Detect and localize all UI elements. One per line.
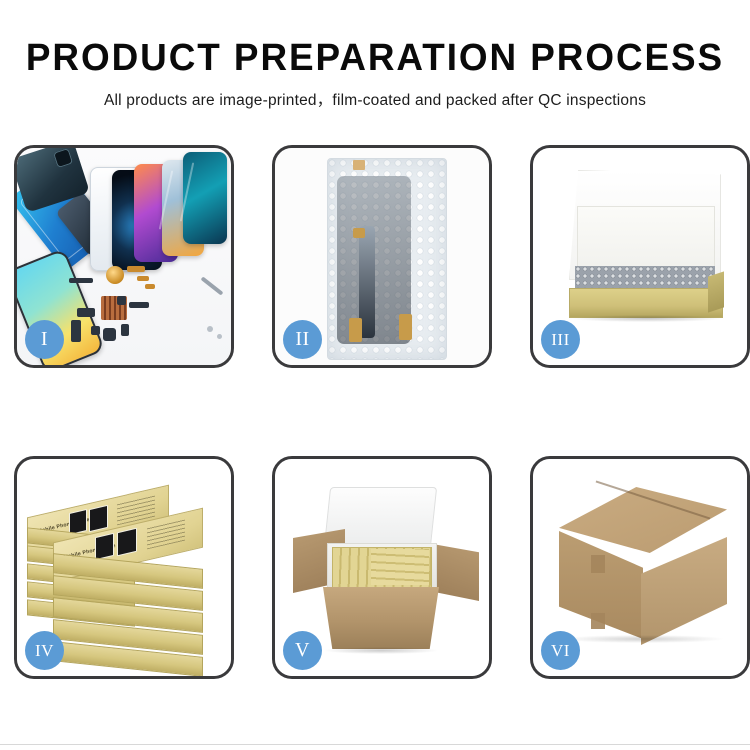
step-frame: III (530, 145, 750, 368)
yellow-box-side (708, 271, 724, 312)
part-flex-1 (71, 320, 81, 342)
step-frame: VI (530, 456, 750, 679)
carton-shadow (563, 635, 723, 643)
step-frame: Mobile Phone Spare Parts Mobile Phone Sp… (14, 456, 234, 679)
tweezer-tool (201, 276, 224, 295)
box-window-back-2 (89, 505, 108, 532)
page-subtitle: All products are image-printed，film-coat… (0, 88, 750, 110)
copper-coil-part (106, 266, 124, 284)
part-gold-flex-1 (127, 266, 145, 272)
step-badge-6: VI (541, 631, 580, 670)
screw-2 (217, 334, 222, 339)
bag-tape (353, 160, 365, 170)
step-badge-5: V (283, 631, 322, 670)
part-connector-1 (77, 308, 95, 317)
yellow-box-front (569, 288, 723, 318)
process-step-5: V (272, 456, 492, 679)
process-step-2: II (272, 145, 492, 368)
part-gold-flex-3 (145, 284, 155, 289)
step-frame: V (272, 456, 492, 679)
yellow-boxes-row-2 (371, 549, 429, 585)
part-strip-1 (69, 278, 93, 283)
part-chip-2 (117, 296, 126, 305)
part-strip-2 (129, 302, 149, 308)
carton-tape-upper (591, 555, 605, 573)
process-step-grid: I II (14, 145, 734, 679)
carton-shadow (325, 647, 437, 654)
step-badge-1: I (25, 320, 64, 359)
step-badge-2: II (283, 320, 322, 359)
part-chip-1 (91, 326, 100, 335)
step-frame: II (272, 145, 492, 368)
page-title: PRODUCT PREPARATION PROCESS (11, 36, 739, 80)
carton-right-face (641, 537, 727, 645)
part-speaker-1 (121, 324, 129, 336)
phone-teal-gradient (183, 152, 227, 244)
box-window-front-2 (117, 528, 137, 557)
carton-body (323, 587, 439, 649)
box-window-front-1 (95, 533, 114, 560)
screw-1 (207, 326, 213, 332)
box-shadow (573, 315, 721, 322)
part-camera-1 (103, 328, 116, 341)
carton-tape-lower (591, 613, 605, 629)
process-step-6: VI (530, 456, 750, 679)
preparation-process-page: PRODUCT PREPARATION PROCESS All products… (0, 0, 750, 750)
camera-module-icon (53, 148, 73, 168)
step-badge-4: IV (25, 631, 64, 670)
step-badge-3: III (541, 320, 580, 359)
page-header: PRODUCT PREPARATION PROCESS All products… (0, 36, 750, 110)
bottom-divider (0, 744, 750, 745)
gold-connector-1 (353, 228, 365, 238)
gold-connector-2 (349, 318, 362, 342)
process-step-3: III (530, 145, 750, 368)
step-frame: I (14, 145, 234, 368)
gold-connector-3 (399, 314, 412, 340)
part-gold-flex-2 (137, 276, 149, 281)
process-step-1: I (14, 145, 234, 368)
process-step-4: Mobile Phone Spare Parts Mobile Phone Sp… (14, 456, 234, 679)
